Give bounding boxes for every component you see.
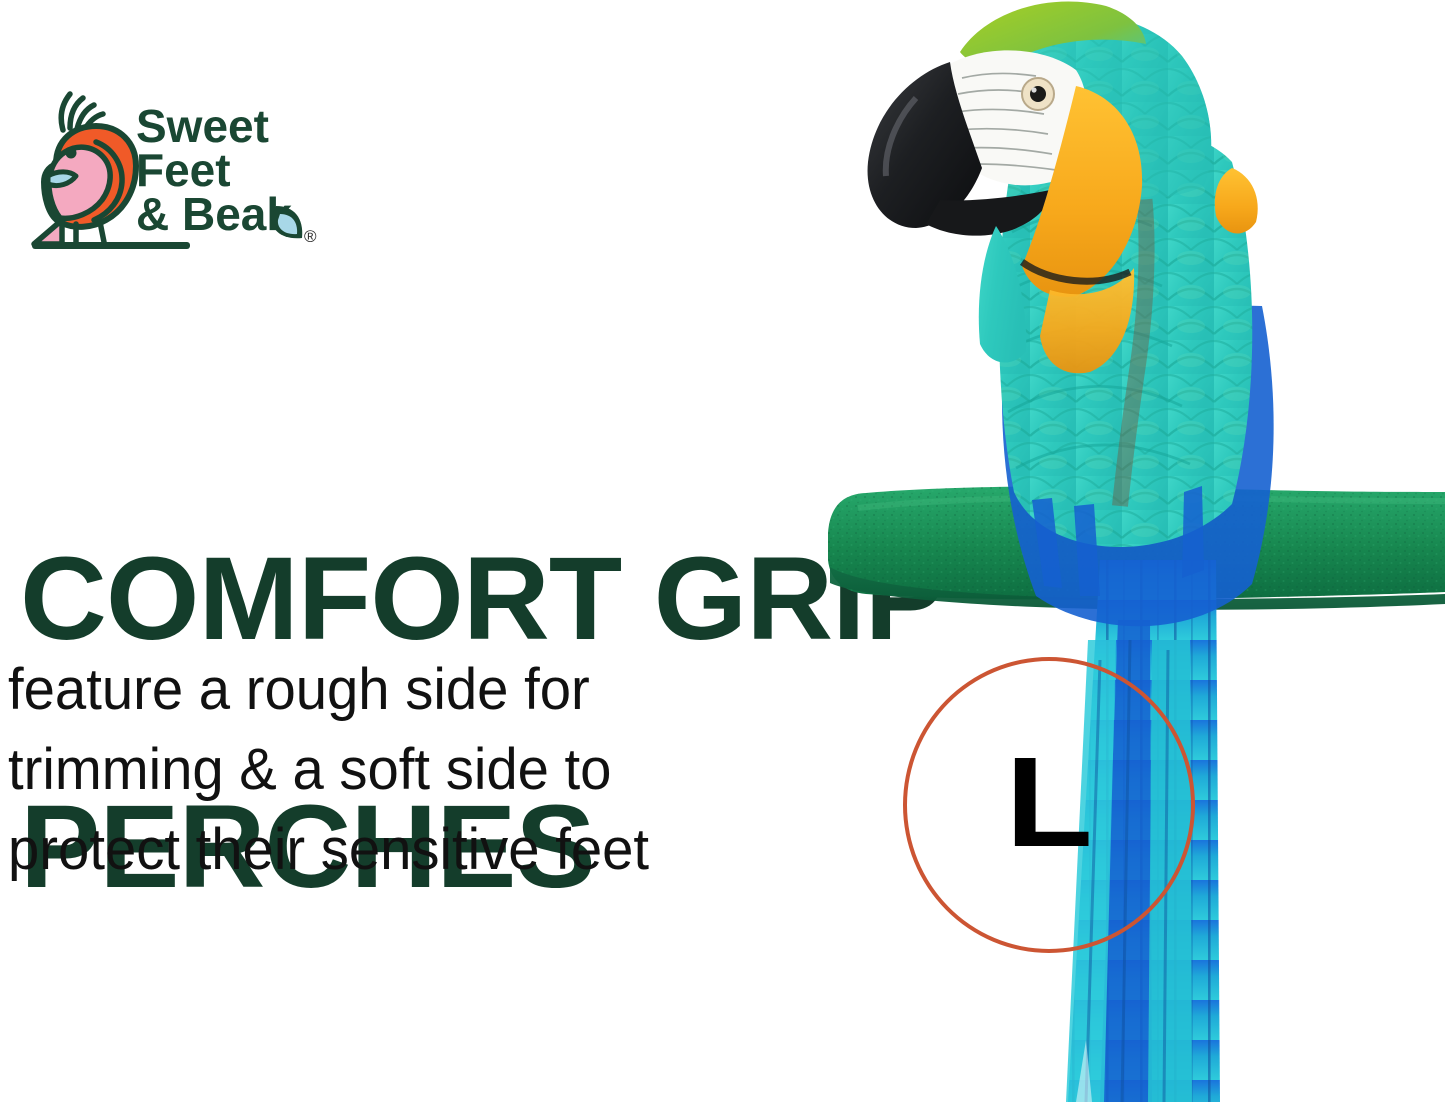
subcopy-line-1: feature a rough side for bbox=[8, 650, 803, 730]
size-badge: L bbox=[903, 657, 1195, 953]
subcopy-line-3: protect their sensitive feet bbox=[8, 810, 803, 890]
size-badge-label: L bbox=[1005, 739, 1093, 867]
macaw-eye bbox=[1022, 78, 1054, 110]
crown-green-patch bbox=[960, 2, 1146, 72]
subcopy-line-2: trimming & a soft side to bbox=[8, 730, 803, 810]
macaw-beak-upper bbox=[868, 62, 982, 228]
headline-line-1: COMFORT GRIP bbox=[20, 537, 1050, 661]
face-white-patch bbox=[943, 50, 1088, 185]
brand-logo: Sweet Feet & Beak ® bbox=[18, 82, 318, 257]
brand-logo-graphic: Sweet Feet & Beak ® bbox=[18, 82, 318, 257]
throat-gold-patch bbox=[1022, 86, 1142, 297]
product-description: feature a rough side for trimming & a so… bbox=[8, 650, 803, 890]
wordmark-line-3: & Beak bbox=[136, 188, 292, 240]
shoulder-gold-patch bbox=[1215, 168, 1258, 233]
registered-trademark-icon: ® bbox=[304, 227, 317, 246]
macaw-head bbox=[868, 2, 1212, 374]
logo-bird-eye bbox=[66, 148, 77, 159]
logo-bird-tail bbox=[34, 220, 62, 244]
product-marketing-banner: Sweet Feet & Beak ® COMFORT GRIP PERCHES… bbox=[0, 0, 1445, 1102]
macaw-beak-lower bbox=[926, 190, 1050, 236]
logo-perch-line bbox=[32, 242, 190, 249]
